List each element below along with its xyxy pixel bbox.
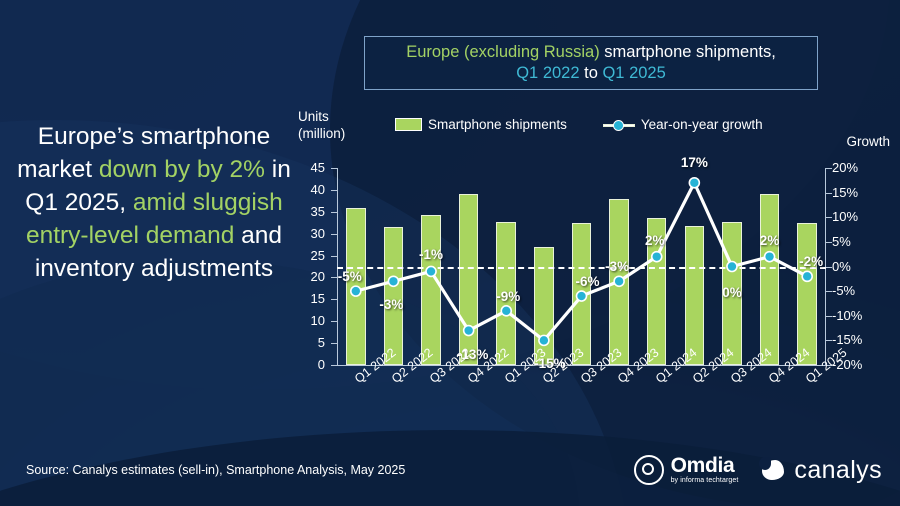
chart-title-box: Europe (excluding Russia) smartphone shi…	[364, 36, 818, 90]
canalys-name: canalys	[794, 458, 882, 483]
growth-value-label: 2%	[645, 233, 665, 248]
canalys-mark-icon	[760, 457, 786, 483]
y-tick-label-right: 10%	[832, 209, 876, 224]
growth-marker-q3-2022[interactable]	[426, 266, 436, 276]
growth-value-label: 17%	[681, 155, 708, 170]
title-period-end: Q1 2025	[602, 64, 665, 82]
omdia-subtitle: by informa techtarget	[671, 476, 739, 485]
growth-marker-q3-2024[interactable]	[727, 262, 737, 272]
growth-marker-q1-2025[interactable]	[802, 271, 812, 281]
title-period-start: Q1 2022	[516, 64, 579, 82]
y-tick-label-left: 45	[291, 160, 325, 175]
growth-marker-q4-2022[interactable]	[464, 326, 474, 336]
growth-line-series	[337, 122, 826, 372]
y-tick-label-left: 0	[291, 357, 325, 372]
source-note: Source: Canalys estimates (sell-in), Sma…	[26, 463, 405, 477]
title-region-text: Europe (excluding Russia)	[406, 43, 600, 61]
growth-value-label: -6%	[575, 274, 599, 289]
growth-marker-q4-2023[interactable]	[614, 276, 624, 286]
slide-canvas: Europe (excluding Russia) smartphone shi…	[0, 0, 900, 506]
y-tick-label-left: 25	[291, 248, 325, 263]
y-tick-label-left: 10	[291, 313, 325, 328]
growth-value-label: -5%	[338, 269, 362, 284]
chart-title-line-1: Europe (excluding Russia) smartphone shi…	[406, 42, 776, 63]
y-tick-label-right: 20%	[832, 160, 876, 175]
headline-text: Europe’s smartphone market down by by 2%…	[8, 120, 300, 285]
y-tick-label-right: 5%	[832, 234, 876, 249]
growth-marker-q1-2024[interactable]	[652, 252, 662, 262]
y-tick-label-right: -10%	[832, 308, 876, 323]
omdia-name: Omdia	[671, 455, 739, 476]
omdia-logo: Omdia by informa techtarget	[634, 455, 739, 485]
growth-value-label: -1%	[419, 247, 443, 262]
canalys-logo: canalys	[760, 457, 882, 483]
plot-area: 051015202530354045-20%-15%-10%-5%0%5%10%…	[337, 168, 826, 365]
title-subject-text: smartphone shipments,	[600, 43, 776, 61]
title-period-sep: to	[580, 64, 603, 82]
growth-marker-q2-2023[interactable]	[539, 335, 549, 345]
growth-value-label: -3%	[605, 259, 629, 274]
growth-value-label: 2%	[760, 233, 780, 248]
omdia-mark-icon	[634, 455, 664, 485]
y-tick-label-left: 30	[291, 226, 325, 241]
logo-group: Omdia by informa techtarget canalys	[634, 455, 882, 485]
y-tick-label-right: 15%	[832, 185, 876, 200]
chart-area: Units (million) Growth Smartphone shipme…	[290, 100, 890, 450]
growth-marker-q2-2024[interactable]	[689, 178, 699, 188]
growth-marker-q1-2023[interactable]	[501, 306, 511, 316]
y-tick-label-left: 15	[291, 291, 325, 306]
y-tick-label-right: -15%	[832, 332, 876, 347]
growth-value-label: -9%	[496, 289, 520, 304]
chart-title-line-2: Q1 2022 to Q1 2025	[516, 63, 666, 84]
growth-marker-q1-2022[interactable]	[351, 286, 361, 296]
y-tick-label-left: 20	[291, 269, 325, 284]
y-tick-label-right: 0%	[832, 259, 876, 274]
y-axis-title-right: Growth	[846, 134, 890, 149]
y-tick-label-right: -5%	[832, 283, 876, 298]
y-tick-label-left: 40	[291, 182, 325, 197]
growth-value-label: -2%	[799, 254, 823, 269]
growth-value-label: 0%	[722, 285, 742, 300]
growth-value-label: -3%	[379, 297, 403, 312]
y-tick-label-left: 35	[291, 204, 325, 219]
growth-marker-q4-2024[interactable]	[765, 252, 775, 262]
growth-marker-q2-2022[interactable]	[388, 276, 398, 286]
headline-segment-2: down by by 2%	[99, 156, 265, 183]
growth-marker-q3-2023[interactable]	[577, 291, 587, 301]
y-tick-label-left: 5	[291, 335, 325, 350]
